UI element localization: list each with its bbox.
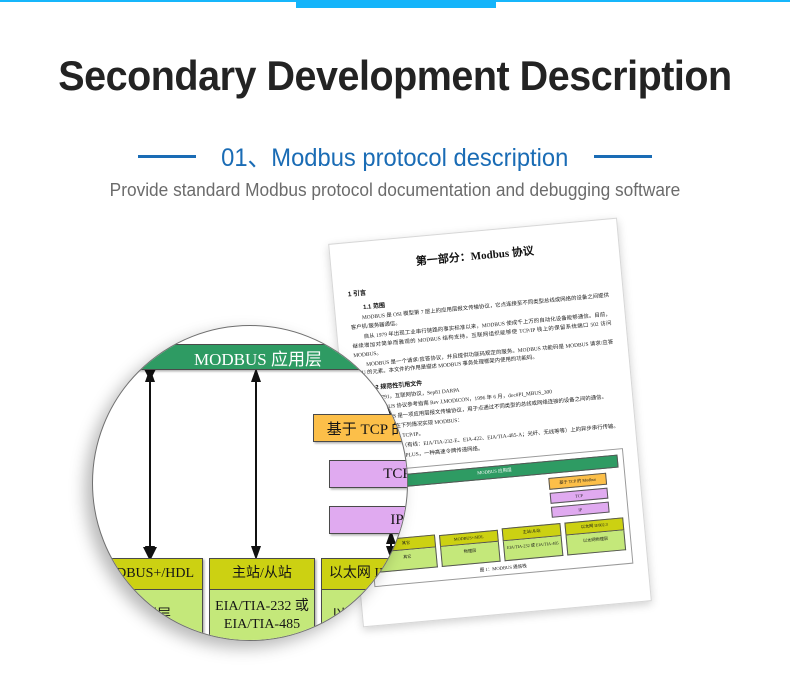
magnified-column-top: 主站/从站 (209, 558, 315, 590)
magnified-tcp-box: TCP (329, 460, 408, 488)
top-accent-block (296, 0, 496, 8)
mini-column: 主站/从站 EIA/TIA-232 或 EIA/TIA-485 (502, 523, 564, 561)
mini-column-bottom: EIA/TIA-232 或 EIA/TIA-485 (503, 536, 564, 561)
magnified-application-layer-bar: MODBUS 应用层 (95, 344, 408, 370)
page-title: Secondary Development Description (24, 52, 767, 100)
page-root: Secondary Development Description 01、Mod… (0, 0, 790, 688)
section-description: Provide standard Modbus protocol documen… (16, 180, 774, 201)
magnified-tcp-modbus-box: 基于 TCP 的 Modbus (313, 414, 408, 442)
magnifier-lens: MODBUS 应用层 基于 TCP 的 Modbus TCP IP ODBUS+… (92, 325, 408, 641)
section-heading-row: 01、Modbus protocol description (0, 138, 790, 174)
mini-column-bottom: 以太网物理层 (566, 530, 627, 555)
magnified-column-top: ODBUS+/HDL (97, 558, 203, 590)
heading-rule-left (138, 155, 196, 158)
section-heading: 01、Modbus protocol description (221, 138, 568, 174)
magnified-content: MODBUS 应用层 基于 TCP 的 Modbus TCP IP ODBUS+… (92, 325, 408, 641)
mini-column-bottom: 物理层 (440, 541, 501, 566)
magnified-ip-box: IP (329, 506, 408, 534)
mini-tcp-modbus-box: 基于 TCP 的 Modbus (548, 472, 607, 489)
magnified-column-modbus-plus: ODBUS+/HDL 物理层 (97, 558, 203, 641)
illustration-area: 第一部分：Modbus 协议 1 引言 1.1 范围 MODBUS 是 OSI … (0, 225, 790, 665)
mini-ip-box: IP (551, 501, 610, 517)
magnified-column-serial: 主站/从站 EIA/TIA-232 或 EIA/TIA-485 (209, 558, 315, 641)
mini-column: MODBUS+/HDL 物理层 (439, 529, 501, 566)
mini-column: 以太网 II/802.3 以太网物理层 (564, 517, 626, 555)
heading-rule-right (594, 155, 652, 158)
magnified-column-ethernet: 以太网 II/802.3 以太网物理层 (321, 558, 408, 641)
magnified-column-bottom: 以太网物理层 (321, 590, 408, 641)
magnified-column-bottom: 物理层 (97, 590, 203, 641)
magnified-column-bottom: EIA/TIA-232 或 EIA/TIA-485 (209, 590, 315, 641)
magnified-column-top: 以太网 II/802.3 (321, 558, 408, 590)
